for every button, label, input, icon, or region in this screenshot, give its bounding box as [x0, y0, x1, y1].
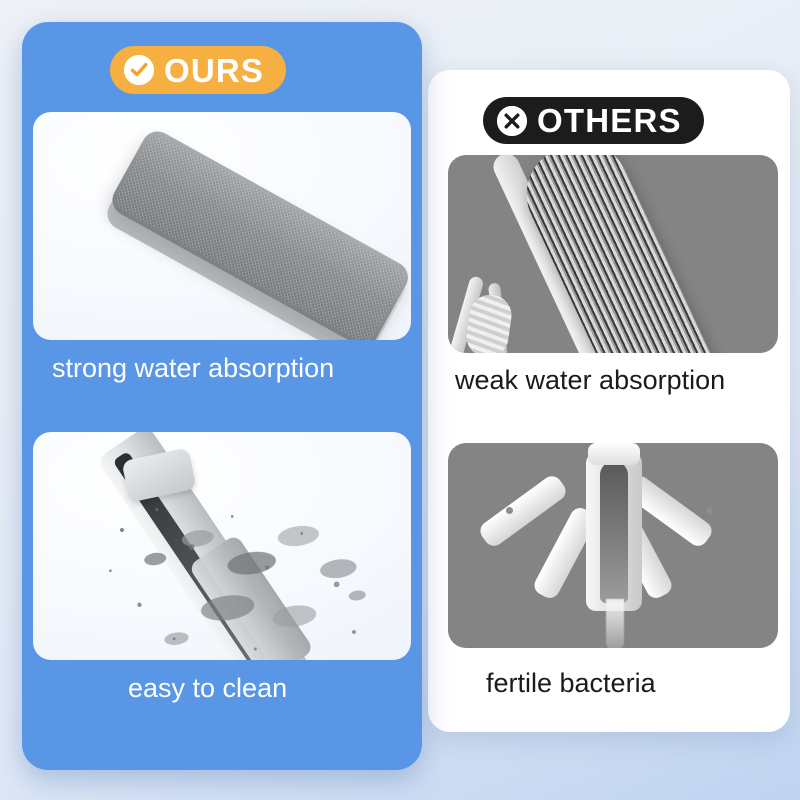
ours-caption-1: strong water absorption	[52, 355, 334, 382]
ours-photo-strong-absorption	[33, 112, 411, 340]
others-caption-1: weak water absorption	[455, 367, 725, 394]
others-badge-label: OTHERS	[537, 104, 682, 137]
photo-background	[33, 432, 411, 660]
x-circle-icon	[497, 106, 527, 136]
water-stream	[606, 599, 624, 648]
others-caption-2: fertile bacteria	[486, 670, 656, 697]
mop-core-slot	[600, 461, 628, 603]
water-droplets	[93, 496, 383, 660]
ours-panel: strong water absorption easy to clean	[22, 22, 422, 770]
ours-badge-label: OURS	[164, 54, 264, 87]
others-photo-fertile-bacteria	[448, 443, 778, 648]
others-photo-weak-absorption	[448, 155, 778, 353]
photo-background	[33, 112, 411, 340]
ours-badge: OURS	[110, 46, 286, 94]
others-badge: OTHERS	[483, 97, 704, 144]
mop-core-cap	[588, 443, 640, 465]
others-panel: weak water absorption fertile bacteria	[428, 70, 790, 732]
mop-screw	[706, 507, 713, 514]
check-circle-icon	[124, 55, 154, 85]
comparison-graphic: weak water absorption fertile bacteria	[0, 0, 800, 800]
photo-background	[448, 155, 778, 353]
ours-caption-2: easy to clean	[128, 675, 287, 702]
mop-screw	[506, 507, 513, 514]
ours-photo-easy-to-clean	[33, 432, 411, 660]
mop-arm-left-outer	[477, 472, 570, 549]
photo-background	[448, 443, 778, 648]
